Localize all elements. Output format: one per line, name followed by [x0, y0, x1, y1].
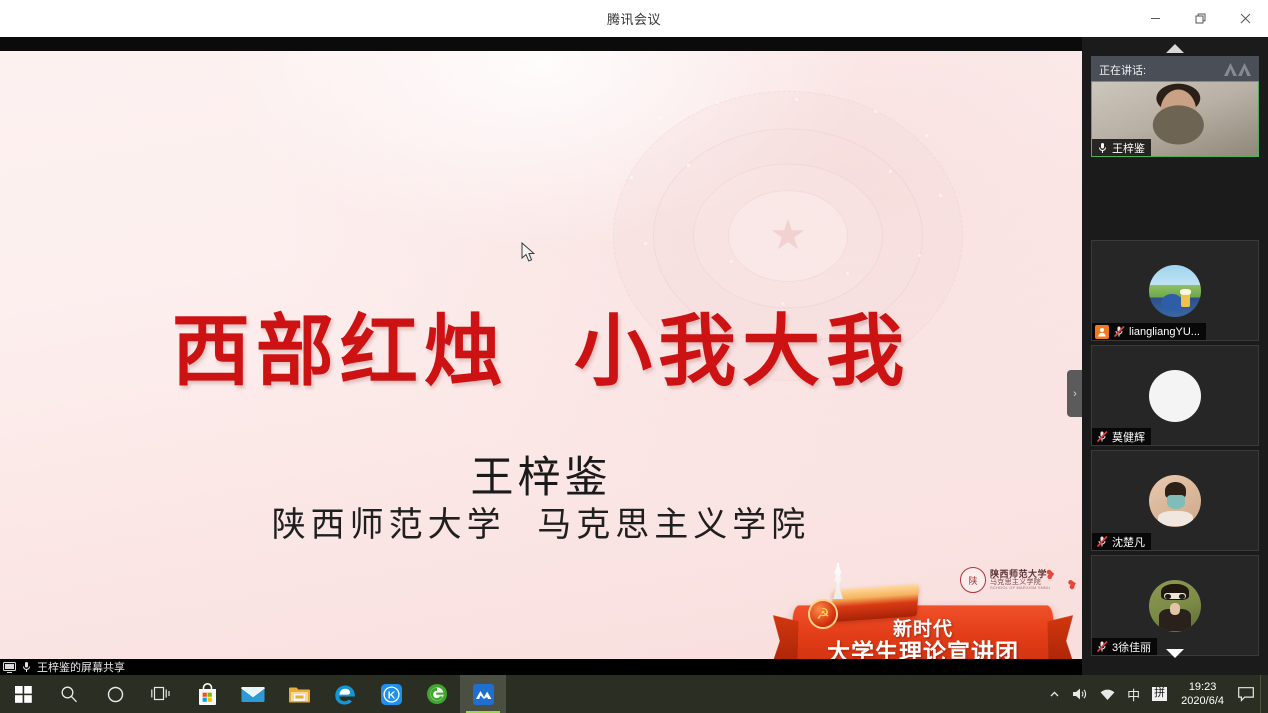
- restore-button[interactable]: [1178, 0, 1223, 37]
- ime-language-indicator[interactable]: 中: [1121, 675, 1146, 713]
- presentation-slide: ★ 西部红烛 小我大我 王梓鉴 陕西师范大学 马克思主义学院 ❥ ❥ ❥ ❥: [0, 51, 1082, 659]
- microphone-muted-icon: [1095, 535, 1109, 549]
- window-controls: [1133, 0, 1268, 37]
- participant-tile[interactable]: 沈楚凡: [1091, 450, 1259, 551]
- participant-tile[interactable]: 3徐佳丽: [1091, 555, 1259, 656]
- svg-text:K: K: [387, 689, 395, 701]
- slide-main-title: 西部红烛 小我大我: [0, 289, 1082, 401]
- microphone-icon: [20, 661, 33, 674]
- slide-affiliation: 陕西师范大学 马克思主义学院: [0, 497, 1082, 546]
- slide-presenter-name: 王梓鉴: [0, 443, 1082, 505]
- participant-name-badge: 王梓鉴: [1092, 139, 1151, 156]
- banner-line-1: 新时代: [893, 620, 953, 640]
- system-tray: 中 拼 19:23 2020/6/4: [1043, 675, 1268, 713]
- ime-keyboard-icon[interactable]: 拼: [1146, 675, 1173, 713]
- participant-name-badge: liangliangYU...: [1092, 323, 1206, 340]
- active-speaker-label: 正在讲话:: [1099, 62, 1146, 78]
- volume-icon[interactable]: [1066, 675, 1094, 713]
- meeting-window-body: ★ 西部红烛 小我大我 王梓鉴 陕西师范大学 马克思主义学院 ❥ ❥ ❥ ❥: [0, 37, 1268, 675]
- participant-tile[interactable]: 王梓鉴: [1091, 81, 1259, 157]
- party-emblem-icon: ☭: [808, 599, 838, 629]
- screen-share-status-bar: 王梓鉴的屏幕共享: [0, 659, 1082, 675]
- browser-360-icon[interactable]: [414, 675, 460, 713]
- cortana-circle-icon[interactable]: [92, 675, 138, 713]
- microsoft-edge-icon[interactable]: [322, 675, 368, 713]
- network-icon[interactable]: [1094, 675, 1121, 713]
- tencent-meeting-watermark-icon: [1224, 63, 1251, 76]
- taskbar-clock[interactable]: 19:23 2020/6/4: [1173, 675, 1232, 713]
- slide-banner-graphic: ❥ ❥ ❥ ❥ 陕 陕西师范大学 马克思主义学院 SCHOOL OF MARXI…: [770, 561, 1082, 659]
- kingsoft-app-icon[interactable]: K: [368, 675, 414, 713]
- minimize-button[interactable]: [1133, 0, 1178, 37]
- show-hidden-icons-chevron[interactable]: [1043, 675, 1066, 713]
- clock-time: 19:23: [1189, 680, 1217, 694]
- monitor-icon: [3, 661, 16, 674]
- microphone-icon: [1095, 141, 1109, 155]
- logo-english-name: SCHOOL OF MARXISM SNNU: [990, 586, 1050, 590]
- participant-panel: 正在讲话: 王梓鉴: [1082, 37, 1268, 675]
- tencent-meeting-icon[interactable]: [460, 675, 506, 713]
- screen-share-status-text: 王梓鉴的屏幕共享: [37, 659, 125, 675]
- banner-line-2: 大学生理论宣讲团: [827, 640, 1019, 659]
- avatar: [1149, 580, 1201, 632]
- mail-envelope-icon[interactable]: [230, 675, 276, 713]
- window-title: 腾讯会议: [607, 9, 661, 28]
- university-logo: 陕 陕西师范大学 马克思主义学院 SCHOOL OF MARXISM SNNU: [960, 565, 1070, 595]
- start-button[interactable]: [0, 675, 46, 713]
- star-icon: ★: [769, 214, 807, 256]
- collapse-panel-handle[interactable]: ›: [1067, 370, 1083, 417]
- microsoft-store-icon[interactable]: [184, 675, 230, 713]
- avatar: [1149, 475, 1201, 527]
- action-center-icon[interactable]: [1232, 675, 1260, 713]
- search-icon[interactable]: [46, 675, 92, 713]
- file-explorer-icon[interactable]: [276, 675, 322, 713]
- participant-name: 沈楚凡: [1112, 534, 1145, 550]
- participant-name-badge: 沈楚凡: [1092, 533, 1151, 550]
- participant-tile[interactable]: liangliangYU...: [1091, 240, 1259, 341]
- participant-name: 莫健辉: [1112, 429, 1145, 445]
- panel-scroll-down-button[interactable]: [1082, 645, 1268, 661]
- shared-screen-area[interactable]: ★ 西部红烛 小我大我 王梓鉴 陕西师范大学 马克思主义学院 ❥ ❥ ❥ ❥: [0, 51, 1082, 659]
- participant-name: liangliangYU...: [1129, 326, 1200, 338]
- clock-date: 2020/6/4: [1181, 694, 1224, 708]
- microphone-muted-icon: [1095, 430, 1109, 444]
- avatar: [1149, 265, 1201, 317]
- window-title-bar: 腾讯会议: [0, 0, 1268, 37]
- panel-scroll-up-button[interactable]: [1082, 40, 1268, 56]
- avatar: [1149, 370, 1201, 422]
- show-desktop-button[interactable]: [1260, 675, 1268, 713]
- microphone-muted-icon: [1112, 325, 1126, 339]
- logo-university-name: 陕西师范大学: [990, 570, 1050, 579]
- ime-keyboard-glyph: 拼: [1152, 687, 1167, 701]
- participant-tile[interactable]: 莫健辉: [1091, 345, 1259, 446]
- close-button[interactable]: [1223, 0, 1268, 37]
- task-view-icon[interactable]: [138, 675, 184, 713]
- participant-name: 王梓鉴: [1112, 140, 1145, 156]
- seal-icon: 陕: [960, 567, 986, 593]
- active-speaker-header: 正在讲话:: [1091, 56, 1259, 83]
- windows-taskbar: K: [0, 675, 1268, 713]
- participant-name-badge: 莫健辉: [1092, 428, 1151, 445]
- host-badge-icon: [1095, 325, 1109, 339]
